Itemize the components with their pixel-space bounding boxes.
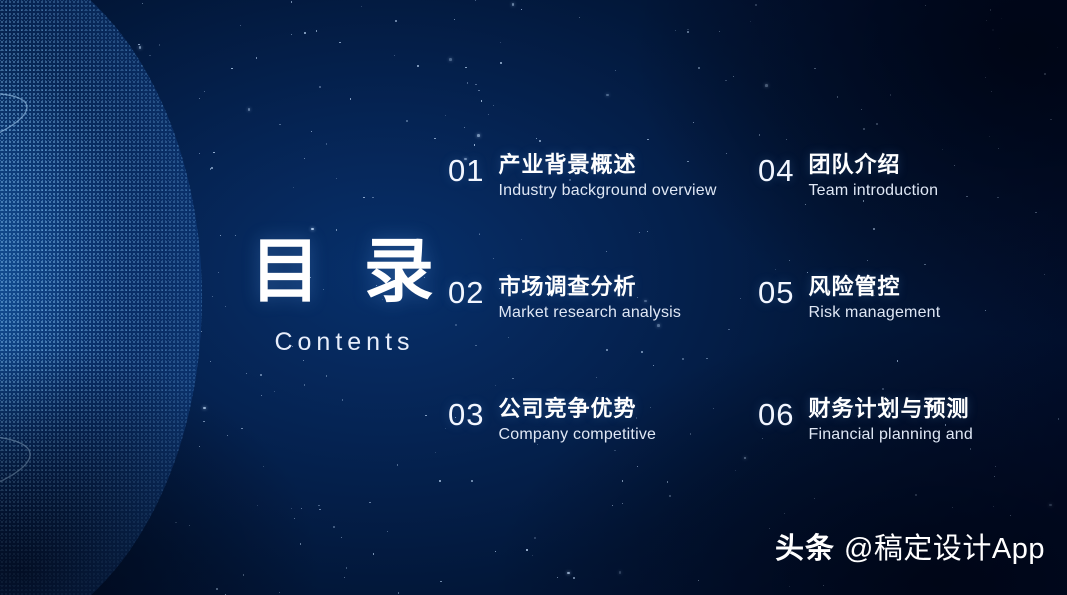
- toc-title-en: Financial planning and: [808, 425, 973, 444]
- toc-title-en: Risk management: [808, 303, 940, 322]
- toc-text: 市场调查分析 Market research analysis: [498, 274, 681, 322]
- toc-text: 财务计划与预测 Financial planning and: [808, 396, 973, 444]
- toc-text: 团队介绍 Team introduction: [808, 152, 938, 200]
- toc-item-01[interactable]: 01 产业背景概述 Industry background overview: [448, 152, 744, 274]
- toc-number: 01: [448, 152, 484, 186]
- toc-number: 02: [448, 274, 484, 308]
- toc-number: 03: [448, 396, 484, 430]
- toc-title-en: Market research analysis: [498, 303, 681, 322]
- toc-item-05[interactable]: 05 风险管控 Risk management: [758, 274, 1054, 396]
- watermark-brand: 头条: [775, 525, 835, 567]
- table-of-contents: 01 产业背景概述 Industry background overview 0…: [448, 152, 1058, 444]
- page-title: 目 录: [232, 236, 452, 306]
- toc-title-cn: 财务计划与预测: [808, 396, 973, 421]
- toc-item-02[interactable]: 02 市场调查分析 Market research analysis: [448, 274, 744, 396]
- toc-title-en: Industry background overview: [498, 181, 716, 200]
- watermark: 头条 @稿定设计App: [775, 525, 1045, 567]
- toc-number: 04: [758, 152, 794, 186]
- toc-number: 06: [758, 396, 794, 430]
- toc-title-en: Team introduction: [808, 181, 938, 200]
- presentation-slide: 目 录 Contents 01 产业背景概述 Industry backgrou…: [0, 0, 1067, 595]
- toc-title-cn: 公司竞争优势: [498, 396, 656, 421]
- toc-item-06[interactable]: 06 财务计划与预测 Financial planning and: [758, 396, 1054, 444]
- toc-number: 05: [758, 274, 794, 308]
- toc-item-03[interactable]: 03 公司竞争优势 Company competitive: [448, 396, 744, 444]
- toc-title-cn: 产业背景概述: [498, 152, 716, 177]
- toc-text: 公司竞争优势 Company competitive: [498, 396, 656, 444]
- toc-text: 风险管控 Risk management: [808, 274, 940, 322]
- toc-text: 产业背景概述 Industry background overview: [498, 152, 716, 200]
- toc-title-cn: 市场调查分析: [498, 274, 681, 299]
- toc-item-04[interactable]: 04 团队介绍 Team introduction: [758, 152, 1054, 274]
- toc-title-cn: 风险管控: [808, 274, 940, 299]
- page-subtitle: Contents: [232, 328, 452, 357]
- toc-title-en: Company competitive: [498, 425, 656, 444]
- toc-title-cn: 团队介绍: [808, 152, 938, 177]
- slide-title-block: 目 录 Contents: [232, 236, 452, 357]
- watermark-handle: @稿定设计App: [844, 525, 1045, 567]
